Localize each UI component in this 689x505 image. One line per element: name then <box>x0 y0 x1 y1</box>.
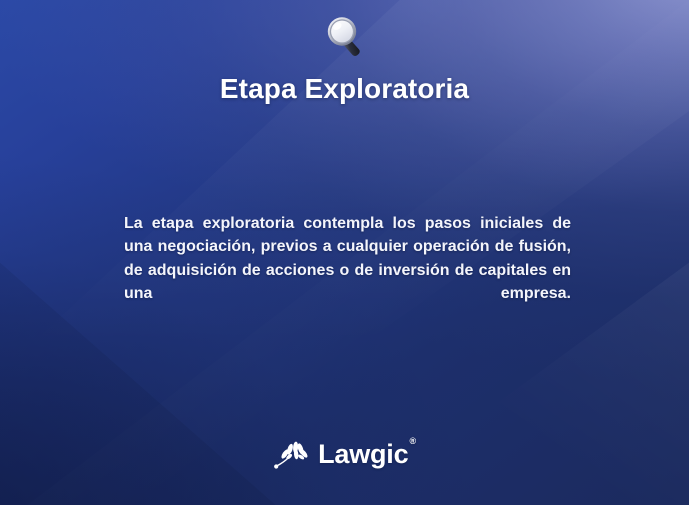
presentation-slide: Etapa Exploratoria La etapa exploratoria… <box>0 0 689 505</box>
brand-logo: Lawgic® <box>0 439 689 469</box>
magnifying-glass-icon <box>322 14 368 58</box>
brand-name: Lawgic <box>318 439 408 469</box>
slide-content: Etapa Exploratoria La etapa exploratoria… <box>0 0 689 505</box>
header-icon-container <box>0 14 689 62</box>
leaf-branch-icon <box>274 439 308 469</box>
registered-trademark-icon: ® <box>409 436 415 446</box>
slide-body-text: La etapa exploratoria contempla los paso… <box>124 212 571 329</box>
slide-title: Etapa Exploratoria <box>0 72 689 106</box>
brand-wordmark: Lawgic® <box>318 439 415 469</box>
